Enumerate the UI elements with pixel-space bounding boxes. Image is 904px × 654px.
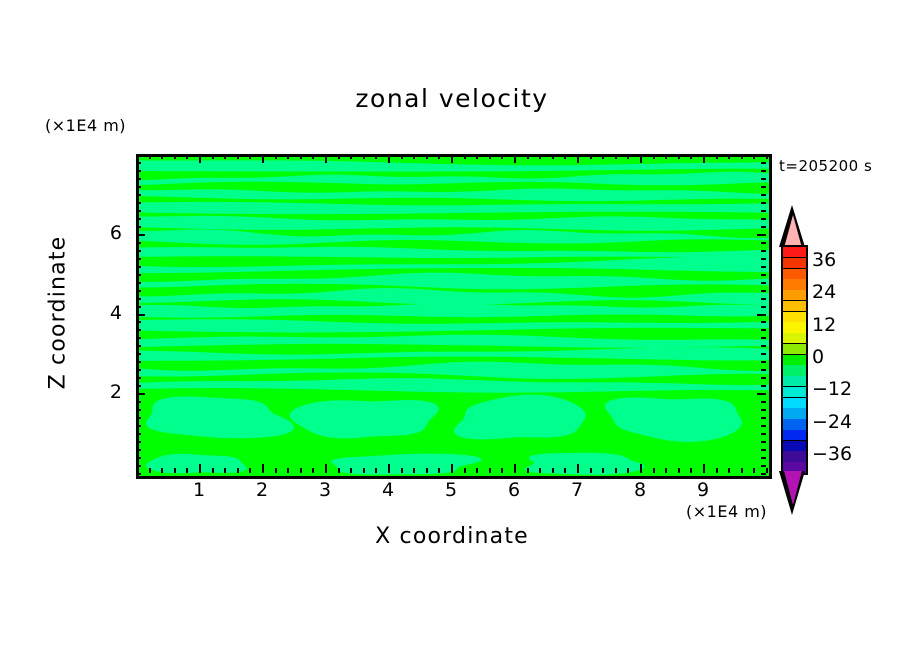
x-minor-tick-top [678, 154, 680, 159]
colorbar-tick-label: 0 [812, 346, 824, 368]
x-minor-tick-top [426, 154, 428, 159]
y-minor-tick-right [761, 226, 766, 228]
contour-field [139, 157, 769, 476]
x-minor-tick-top [716, 154, 718, 159]
y-minor-tick-right [761, 186, 766, 188]
x-major-tick [325, 464, 327, 473]
x-minor-tick-top [627, 154, 629, 159]
colorbar-band [783, 419, 806, 430]
x-minor-tick-top [186, 154, 188, 159]
y-minor-tick [136, 186, 141, 188]
y-minor-tick [136, 473, 141, 475]
x-major-tick-top [199, 154, 201, 163]
x-minor-tick [678, 468, 680, 473]
x-major-tick-top [514, 154, 516, 163]
colorbar-tick-label: −12 [812, 378, 852, 400]
x-minor-tick-top [615, 154, 617, 159]
x-tick-label: 8 [620, 479, 660, 501]
x-minor-tick [350, 468, 352, 473]
y-major-tick [136, 393, 145, 395]
y-minor-tick-right [761, 154, 766, 156]
x-minor-tick [249, 468, 251, 473]
y-minor-tick-right [761, 266, 766, 268]
y-minor-tick [136, 449, 141, 451]
x-minor-tick-top [161, 154, 163, 159]
x-minor-tick [716, 468, 718, 473]
x-major-tick-top [577, 154, 579, 163]
x-major-tick-top [451, 154, 453, 163]
y-minor-tick-right [761, 218, 766, 220]
y-major-tick-right [757, 314, 766, 316]
y-minor-tick [136, 345, 141, 347]
y-minor-tick [136, 162, 141, 164]
x-minor-tick-top [300, 154, 302, 159]
x-tick-label: 1 [179, 479, 219, 501]
x-minor-tick [653, 468, 655, 473]
y-minor-tick [136, 433, 141, 435]
x-minor-tick [464, 468, 466, 473]
x-minor-tick [489, 468, 491, 473]
y-minor-tick [136, 306, 141, 308]
colorbar-tick-label: −24 [812, 411, 852, 433]
y-major-tick-right [757, 234, 766, 236]
y-minor-tick-right [761, 210, 766, 212]
x-minor-tick-top [174, 154, 176, 159]
y-minor-tick [136, 170, 141, 172]
y-minor-tick-right [761, 194, 766, 196]
colorbar-band [783, 269, 806, 280]
y-minor-tick [136, 290, 141, 292]
x-minor-tick [753, 468, 755, 473]
y-minor-tick [136, 250, 141, 252]
x-minor-tick [741, 468, 743, 473]
x-minor-tick [615, 468, 617, 473]
y-minor-tick [136, 242, 141, 244]
x-minor-tick-top [287, 154, 289, 159]
y-minor-tick [136, 425, 141, 427]
figure-canvas: zonal velocity (×1E4 m) t=205200 s X coo… [0, 0, 904, 654]
x-minor-tick [539, 468, 541, 473]
colorbar-tick-label: 24 [812, 281, 836, 303]
x-minor-tick [438, 468, 440, 473]
y-minor-tick-right [761, 170, 766, 172]
x-minor-tick [212, 468, 214, 473]
x-minor-tick-top [552, 154, 554, 159]
x-minor-tick [186, 468, 188, 473]
y-minor-tick [136, 266, 141, 268]
y-minor-tick [136, 369, 141, 371]
y-minor-tick-right [761, 329, 766, 331]
y-minor-tick [136, 457, 141, 459]
x-tick-label: 7 [557, 479, 597, 501]
y-minor-tick-right [761, 290, 766, 292]
colorbar-band [783, 365, 806, 376]
x-minor-tick [728, 468, 730, 473]
x-minor-tick-top [401, 154, 403, 159]
x-major-tick [451, 464, 453, 473]
colorbar-band [783, 279, 806, 290]
y-minor-tick-right [761, 258, 766, 260]
x-minor-tick [363, 468, 365, 473]
y-minor-tick-right [761, 337, 766, 339]
x-tick-label: 9 [683, 479, 723, 501]
x-major-tick-top [262, 154, 264, 163]
y-minor-tick-right [761, 306, 766, 308]
x-minor-tick [590, 468, 592, 473]
x-minor-tick-top [728, 154, 730, 159]
y-minor-tick-right [761, 178, 766, 180]
contour-plot-area [136, 154, 772, 479]
colorbar-band [783, 312, 806, 323]
colorbar-band [783, 376, 806, 387]
x-minor-tick-top [653, 154, 655, 159]
chart-title: zonal velocity [0, 84, 904, 113]
x-minor-tick [312, 468, 314, 473]
colorbar-under-arrow-fill [784, 471, 802, 505]
x-minor-tick-top [690, 154, 692, 159]
x-minor-tick-top [564, 154, 566, 159]
y-minor-tick-right [761, 345, 766, 347]
y-minor-tick-right [761, 282, 766, 284]
y-minor-tick [136, 226, 141, 228]
y-minor-tick [136, 329, 141, 331]
y-minor-tick [136, 274, 141, 276]
y-minor-tick-right [761, 250, 766, 252]
x-minor-tick-top [602, 154, 604, 159]
y-minor-tick [136, 321, 141, 323]
x-minor-tick-top [539, 154, 541, 159]
x-minor-tick [527, 468, 529, 473]
x-minor-tick-top [753, 154, 755, 159]
x-major-tick-top [325, 154, 327, 163]
y-minor-tick [136, 178, 141, 180]
colorbar-band [783, 451, 806, 462]
x-tick-label: 2 [242, 479, 282, 501]
y-minor-tick [136, 154, 141, 156]
colorbar-over-arrow-fill [784, 215, 802, 248]
colorbar-band [783, 387, 806, 398]
x-minor-tick-top [464, 154, 466, 159]
colorbar-band [783, 355, 806, 366]
x-minor-tick-top [766, 154, 768, 159]
x-minor-tick-top [501, 154, 503, 159]
x-axis-title: X coordinate [0, 524, 904, 549]
x-major-tick-top [388, 154, 390, 163]
x-major-tick [577, 464, 579, 473]
colorbar-band [783, 441, 806, 452]
x-minor-tick [564, 468, 566, 473]
y-minor-tick [136, 417, 141, 419]
x-minor-tick [426, 468, 428, 473]
x-minor-tick-top [476, 154, 478, 159]
y-minor-tick-right [761, 465, 766, 467]
timestamp-annotation: t=205200 s [779, 157, 872, 175]
x-minor-tick-top [590, 154, 592, 159]
x-minor-tick [237, 468, 239, 473]
y-minor-tick-right [761, 202, 766, 204]
colorbar-band [783, 301, 806, 312]
x-minor-tick [401, 468, 403, 473]
x-minor-tick [174, 468, 176, 473]
y-minor-tick-right [761, 353, 766, 355]
y-minor-tick [136, 361, 141, 363]
y-minor-tick [136, 282, 141, 284]
y-minor-tick [136, 258, 141, 260]
y-minor-tick-right [761, 377, 766, 379]
y-minor-tick-right [761, 457, 766, 459]
y-minor-tick [136, 401, 141, 403]
colorbar-tick-label: −36 [812, 443, 852, 465]
x-minor-tick-top [665, 154, 667, 159]
x-minor-tick-top [438, 154, 440, 159]
colorbar-band [783, 290, 806, 301]
x-minor-tick [766, 468, 768, 473]
y-minor-tick [136, 210, 141, 212]
colorbar-band [783, 333, 806, 344]
y-major-tick-right [757, 393, 766, 395]
y-tick-label: 6 [92, 222, 122, 244]
x-major-tick [514, 464, 516, 473]
colorbar-bands [783, 247, 806, 473]
x-tick-label: 3 [305, 479, 345, 501]
x-minor-tick-top [338, 154, 340, 159]
x-minor-tick [501, 468, 503, 473]
y-minor-tick-right [761, 433, 766, 435]
colorbar-band [783, 430, 806, 441]
x-minor-tick [275, 468, 277, 473]
y-minor-tick [136, 218, 141, 220]
y-axis-unit-label: (×1E4 m) [45, 116, 126, 135]
x-minor-tick [224, 468, 226, 473]
y-major-tick [136, 314, 145, 316]
y-minor-tick [136, 465, 141, 467]
x-minor-tick [149, 468, 151, 473]
y-minor-tick [136, 385, 141, 387]
x-major-tick-top [703, 154, 705, 163]
x-minor-tick-top [413, 154, 415, 159]
y-minor-tick-right [761, 425, 766, 427]
y-minor-tick-right [761, 473, 766, 475]
x-minor-tick-top [489, 154, 491, 159]
y-minor-tick-right [761, 449, 766, 451]
y-major-tick [136, 234, 145, 236]
x-minor-tick [602, 468, 604, 473]
colorbar-band [783, 344, 806, 355]
colorbar-band [783, 408, 806, 419]
x-tick-label: 4 [368, 479, 408, 501]
x-major-tick-top [640, 154, 642, 163]
x-minor-tick [665, 468, 667, 473]
x-major-tick [388, 464, 390, 473]
x-tick-label: 5 [431, 479, 471, 501]
x-axis-unit-label: (×1E4 m) [686, 502, 767, 521]
x-minor-tick [375, 468, 377, 473]
x-minor-tick-top [350, 154, 352, 159]
x-minor-tick-top [212, 154, 214, 159]
y-minor-tick-right [761, 441, 766, 443]
y-minor-tick-right [761, 321, 766, 323]
y-minor-tick [136, 377, 141, 379]
x-major-tick [640, 464, 642, 473]
x-minor-tick-top [224, 154, 226, 159]
y-minor-tick [136, 194, 141, 196]
x-minor-tick-top [527, 154, 529, 159]
x-minor-tick-top [275, 154, 277, 159]
y-minor-tick [136, 202, 141, 204]
x-minor-tick [300, 468, 302, 473]
y-minor-tick [136, 298, 141, 300]
x-major-tick [199, 464, 201, 473]
x-minor-tick [552, 468, 554, 473]
x-minor-tick [287, 468, 289, 473]
y-minor-tick-right [761, 361, 766, 363]
colorbar-tick-label: 36 [812, 249, 836, 271]
x-minor-tick-top [249, 154, 251, 159]
y-minor-tick-right [761, 385, 766, 387]
y-axis-title: Z coordinate [46, 233, 71, 393]
y-minor-tick [136, 441, 141, 443]
x-minor-tick-top [149, 154, 151, 159]
x-major-tick [262, 464, 264, 473]
x-minor-tick-top [363, 154, 365, 159]
y-minor-tick-right [761, 369, 766, 371]
colorbar-band [783, 322, 806, 333]
y-minor-tick-right [761, 242, 766, 244]
x-tick-label: 6 [494, 479, 534, 501]
x-minor-tick [627, 468, 629, 473]
colorbar-tick-label: 12 [812, 314, 836, 336]
y-minor-tick [136, 337, 141, 339]
x-major-tick [703, 464, 705, 473]
x-minor-tick [338, 468, 340, 473]
colorbar-band [783, 398, 806, 409]
x-minor-tick-top [312, 154, 314, 159]
x-minor-tick-top [237, 154, 239, 159]
y-minor-tick [136, 409, 141, 411]
y-minor-tick-right [761, 401, 766, 403]
colorbar-band [783, 247, 806, 258]
y-minor-tick-right [761, 409, 766, 411]
y-minor-tick-right [761, 298, 766, 300]
y-minor-tick [136, 353, 141, 355]
y-minor-tick-right [761, 274, 766, 276]
colorbar-band [783, 258, 806, 269]
y-tick-label: 4 [92, 302, 122, 324]
x-minor-tick [413, 468, 415, 473]
x-minor-tick [476, 468, 478, 473]
y-tick-label: 2 [92, 381, 122, 403]
x-minor-tick [161, 468, 163, 473]
y-minor-tick-right [761, 417, 766, 419]
x-minor-tick-top [375, 154, 377, 159]
x-minor-tick [690, 468, 692, 473]
y-minor-tick-right [761, 162, 766, 164]
x-minor-tick-top [741, 154, 743, 159]
